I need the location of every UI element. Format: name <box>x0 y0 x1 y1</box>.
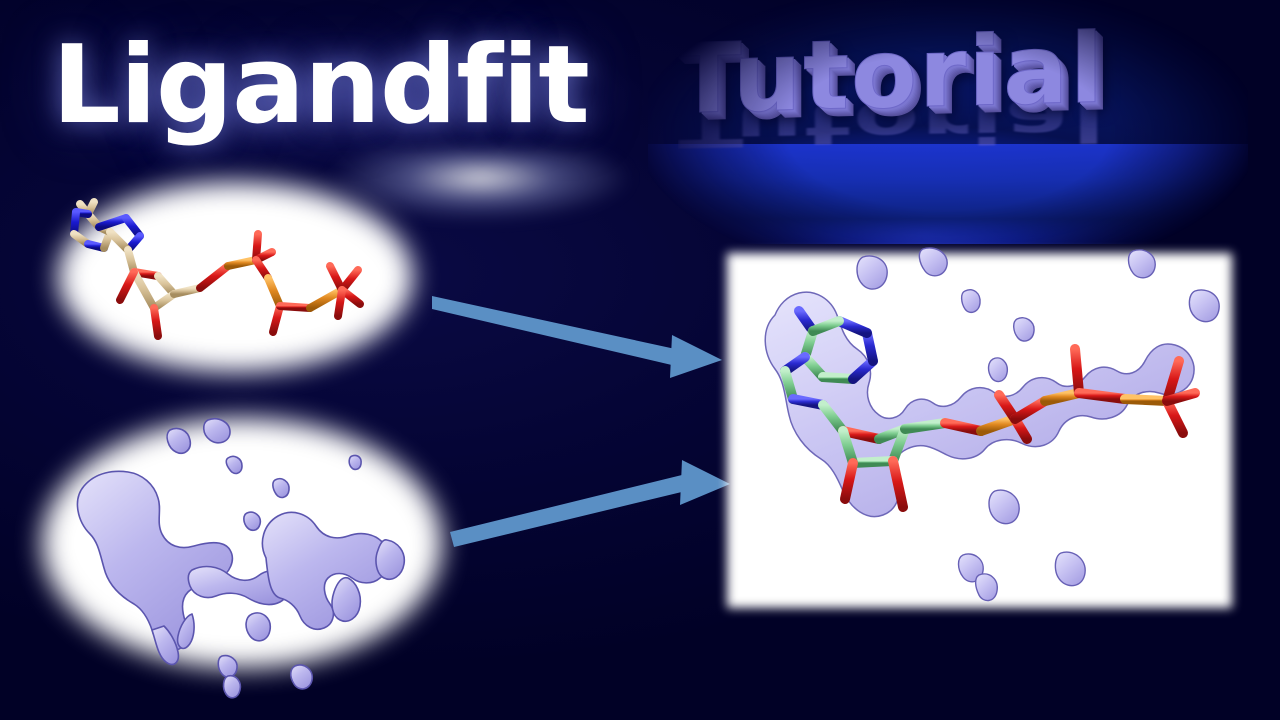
page-title: Ligandfit <box>52 22 589 149</box>
ligand-model-figure <box>58 182 413 372</box>
tutorial-title-slide: Ligandfit Tutorial Tutorial <box>0 0 1280 720</box>
fitted-result-figure <box>727 253 1232 608</box>
density-map-figure <box>42 418 442 668</box>
arrow-ligand-to-result <box>432 286 722 381</box>
ligand-model-panel <box>58 182 413 372</box>
fitted-result-panel <box>727 253 1232 608</box>
density-map-panel <box>42 418 442 668</box>
tutorial-3d-artwork: Tutorial Tutorial <box>648 0 1248 244</box>
arrow-density-to-result <box>450 460 730 550</box>
tutorial-word: Tutorial <box>676 12 1105 135</box>
